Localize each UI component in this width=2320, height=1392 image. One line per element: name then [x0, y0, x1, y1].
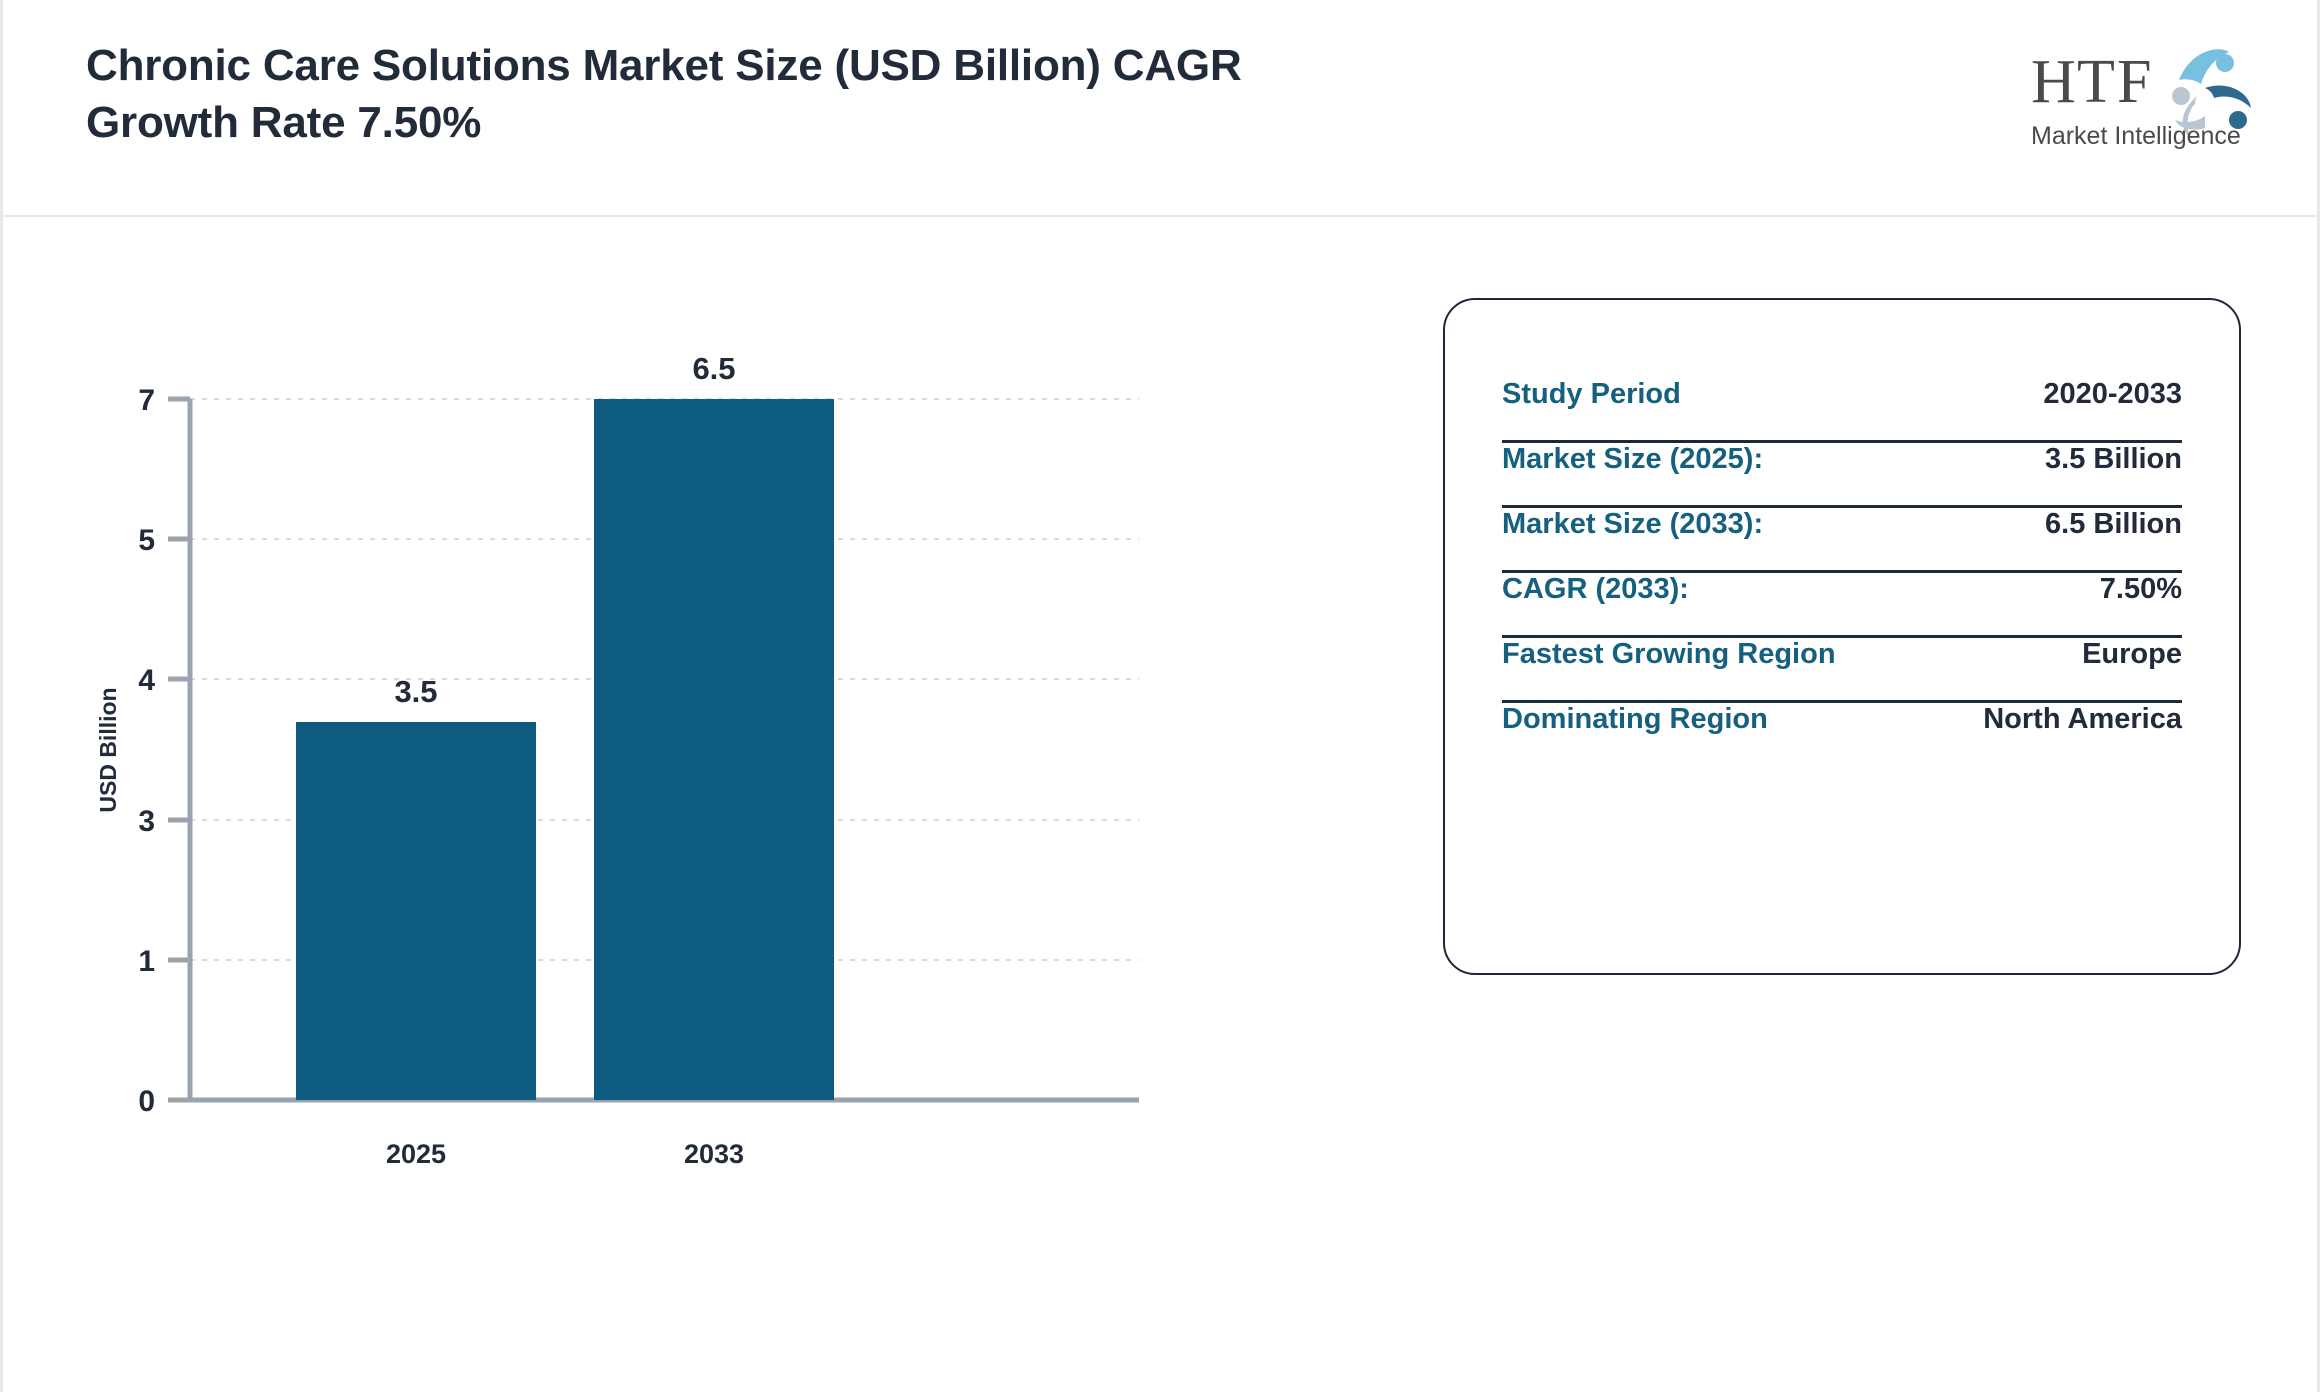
y-axis-title: USD Billion	[95, 687, 121, 812]
summary-row-market-size-2033: Market Size (2033): 6.5 Billion	[1502, 505, 2182, 570]
bar-value-label-2033: 6.5	[692, 351, 735, 386]
summary-label: Dominating Region	[1502, 703, 1768, 736]
logo-tagline: Market Intelligence	[2031, 122, 2241, 150]
y-tick-label: 0	[138, 1085, 155, 1118]
summary-label: CAGR (2033):	[1502, 573, 1689, 606]
summary-label: Market Size (2025):	[1502, 443, 1763, 476]
logo-wordmark-text-f: F	[2117, 48, 2151, 116]
summary-row-cagr-2033: CAGR (2033): 7.50%	[1502, 570, 2182, 635]
page-title: Chronic Care Solutions Market Size (USD …	[86, 37, 1286, 151]
market-summary-rows: Study Period 2020-2033 Market Size (2025…	[1502, 378, 2182, 765]
summary-value: North America	[1983, 703, 2182, 736]
summary-value: 2020-2033	[2043, 378, 2182, 411]
summary-row-fastest-growing-region: Fastest Growing Region Europe	[1502, 635, 2182, 700]
chart-page: Chronic Care Solutions Market Size (USD …	[0, 0, 2320, 1392]
summary-row-market-size-2025: Market Size (2025): 3.5 Billion	[1502, 440, 2182, 505]
summary-row-study-period: Study Period 2020-2033	[1502, 378, 2182, 440]
summary-value: 6.5 Billion	[2045, 508, 2182, 541]
summary-value: 3.5 Billion	[2045, 443, 2182, 476]
y-tick-label: 7	[138, 384, 155, 417]
summary-row-dominating-region: Dominating Region North America	[1502, 700, 2182, 765]
y-tick-label: 1	[138, 945, 155, 978]
logo-wordmark-text-t: T	[2077, 48, 2115, 116]
x-tick-label-2033: 2033	[684, 1139, 744, 1169]
x-tick-label-2025: 2025	[386, 1139, 446, 1169]
summary-label: Market Size (2033):	[1502, 508, 1763, 541]
bar-value-label-2025: 3.5	[394, 674, 437, 709]
htf-market-intelligence-logo: H T F Market Intelligence	[2029, 36, 2269, 154]
page-header: Chronic Care Solutions Market Size (USD …	[3, 0, 2317, 217]
summary-label: Study Period	[1502, 378, 1681, 411]
summary-value: 7.50%	[2100, 573, 2182, 606]
y-axis	[168, 399, 190, 1100]
market-summary-card: Study Period 2020-2033 Market Size (2025…	[1443, 298, 2241, 975]
y-tick-label: 3	[138, 805, 155, 838]
bar-2025[interactable]	[296, 722, 536, 1100]
summary-value: Europe	[2082, 638, 2182, 671]
summary-label: Fastest Growing Region	[1502, 638, 1836, 671]
bar-chart: 7 5 4 3 1 0 USD Billion 3.5 6.5 2025 203…	[3, 217, 1303, 1392]
bar-2033[interactable]	[594, 399, 834, 1100]
y-tick-label: 4	[138, 664, 155, 697]
y-tick-label: 5	[138, 524, 155, 557]
logo-wordmark-text: H	[2031, 48, 2076, 116]
